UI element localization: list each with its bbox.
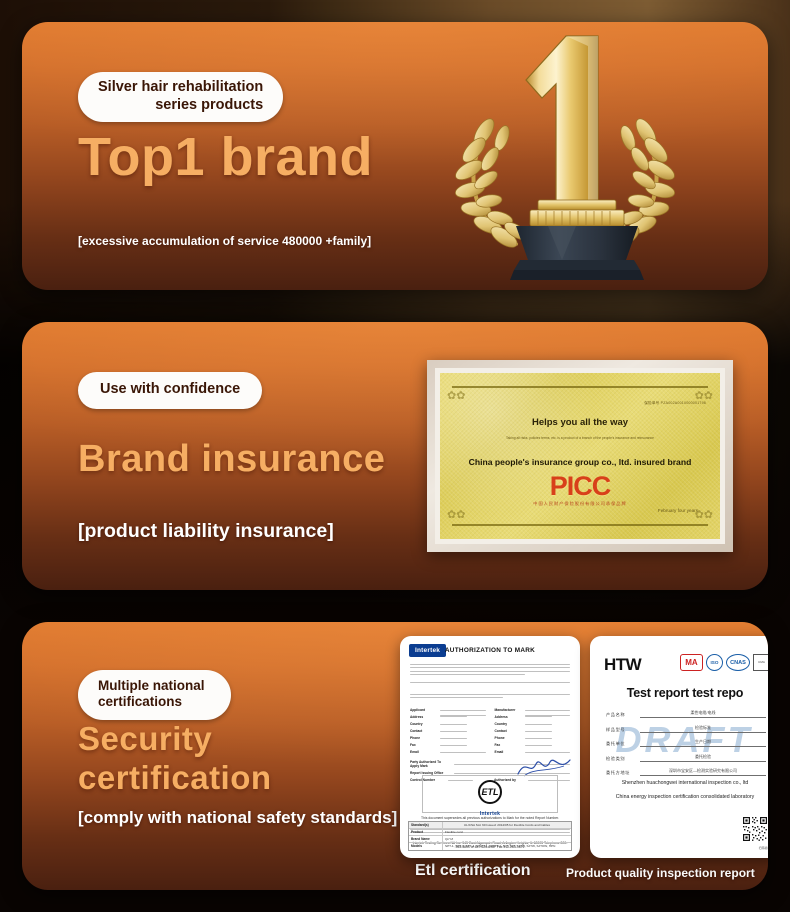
htw-report-title: Test report test repo (590, 686, 768, 700)
table-row: Standard(s) UL/CSA Std. 60 Issued: 2014/… (409, 822, 571, 829)
panel2-headline: Brand insurance (78, 440, 385, 478)
etl-mark-text: ETL (480, 782, 500, 802)
panel1-subline: [excessive accumulation of service 48000… (78, 234, 371, 248)
picc-serial-number: 保险单号 PZA002A0010000001798 (644, 401, 706, 406)
etl-table-key: Product (409, 829, 443, 835)
htw-organization-line2: China energy inspection certification co… (598, 794, 768, 800)
etl-field-label: Email (495, 750, 521, 754)
htw-logo: HTW (604, 656, 641, 673)
etl-field-label: Address (410, 715, 436, 719)
panel2-badge-pill: Use with confidence (78, 372, 262, 409)
htw-field-value: 生产日期 (640, 739, 766, 747)
etl-certification-mark: ETL Intertek (400, 780, 580, 817)
etl-field-grid: Applicant Address Country Contact Phone … (410, 708, 570, 757)
etl-table-value: QnYZ (443, 836, 571, 842)
trophy-base (510, 226, 644, 280)
panel2-text-column: Use with confidence Brand insurance [pro… (78, 322, 458, 590)
htw-field-value: 委托检验 (640, 754, 766, 762)
panel2-subline: [product liability insurance] (78, 520, 334, 543)
cnas-badge-icon: CNAS (726, 654, 750, 671)
htw-field-row: 检验类别 委托检验 (606, 754, 766, 762)
picc-logo: PICC 中国人民财产保险股份有限公司承保品牌 (440, 473, 720, 507)
panel3-badge-pill: Multiple national certifications (78, 670, 231, 720)
picc-corner-ornament-icon: ✿✿ (447, 510, 465, 521)
picc-corner-ornament-icon: ✿✿ (447, 391, 465, 402)
htw-field-row: 委托方地址 深圳市宝安区—检测实验研究有限公司 (606, 768, 766, 776)
htw-field-value: 检验标准 (640, 725, 766, 733)
htw-qr-caption: 扫码验真 (759, 846, 768, 850)
htw-test-report-document[interactable]: HTW MA ISO CNAS CMA Test report test rep… (590, 636, 768, 858)
panel1-headline: Top1 brand (78, 130, 373, 184)
etl-paragraph-2 (410, 682, 570, 685)
panel-security-certification[interactable]: Multiple national certifications Securit… (22, 622, 768, 890)
table-row: Product Flexible cord (409, 829, 571, 836)
htw-field-row: 产品名称 柔性电缆/电线 (606, 710, 766, 718)
etl-field-label: Address (495, 715, 521, 719)
panel1-badge-line2: series products (98, 97, 263, 115)
etl-field-label: Email (410, 750, 436, 754)
etl-field-label: Contact (495, 729, 521, 733)
panel-top1-brand[interactable]: Silver hair rehabilitation series produc… (22, 22, 768, 290)
panel3-headline: Security certification (78, 720, 272, 798)
htw-field-value: 柔性电缆/电线 (640, 710, 766, 718)
picc-fine-print: Taking all risks, policies terms, etc. i… (464, 436, 696, 440)
number-one-shape (526, 36, 598, 204)
picc-certificate-frame[interactable]: ✿✿ ✿✿ ✿✿ ✿✿ 保险单号 PZA002A0010000001798 He… (427, 360, 733, 552)
etl-field-label: Contact (410, 729, 436, 733)
htw-field-row: 样品型号 检验标准 (606, 725, 766, 733)
panel3-headline-line1: Security (78, 720, 272, 759)
htw-field-label: 产品名称 (606, 712, 636, 718)
panel1-badge-line1: Silver hair rehabilitation (98, 79, 263, 97)
htw-field-label: 检验类别 (606, 756, 636, 762)
panel3-headline-line2: certification (78, 759, 272, 798)
picc-certificate-paper: ✿✿ ✿✿ ✿✿ ✿✿ 保险单号 PZA002A0010000001798 He… (440, 373, 720, 539)
picc-date: February four years (658, 508, 698, 513)
trophy-cap (530, 200, 624, 226)
etl-field-label: Fax (495, 743, 521, 747)
etl-mark-icon: ETL (478, 780, 502, 804)
etl-certificate-document[interactable]: Intertek AUTHORIZATION TO MARK Applicant (400, 636, 580, 858)
picc-main-line: China people's insurance group co., ltd.… (448, 457, 712, 467)
etl-table-key: Brand Name (409, 836, 443, 842)
promo-stage: Silver hair rehabilitation series produc… (0, 0, 790, 912)
htw-field-value: 深圳市宝安区—检测实验研究有限公司 (640, 768, 766, 776)
htw-accreditation-badges: MA ISO CNAS CMA (680, 654, 768, 671)
panel3-badge-line2: certifications (98, 694, 205, 710)
cma-badge-icon: MA (680, 654, 703, 671)
panel1-badge-pill: Silver hair rehabilitation series produc… (78, 72, 283, 122)
etl-paragraph-1 (410, 664, 570, 678)
etl-field-label: Applicant (410, 708, 436, 712)
htw-field-label: 样品型号 (606, 727, 636, 733)
etl-footer-note: This document supersedes all previous au… (410, 816, 570, 820)
panel3-subline: [comply with national safety standards] (78, 808, 397, 828)
qr-code-icon (742, 816, 768, 842)
etl-field-label: Country (410, 722, 436, 726)
picc-logo-subtext: 中国人民财产保险股份有限公司承保品牌 (440, 501, 720, 507)
htw-organization-line1: Shenzhen huachongwei international inspe… (598, 780, 768, 786)
etl-applicant-column: Applicant Address Country Contact Phone … (410, 708, 486, 757)
etl-manufacturer-column: Manufacturer Address Country Contact Pho… (495, 708, 571, 757)
etl-table-value: Flexible cord (443, 829, 571, 835)
etl-field-label: Country (495, 722, 521, 726)
htw-field-list: 产品名称 柔性电缆/电线 样品型号 检验标准 委托单位 生产日期 检验类别 (606, 710, 766, 783)
htw-field-label: 委托方地址 (606, 770, 636, 776)
picc-logo-text: PICC (440, 473, 720, 500)
etl-table-key: Models (409, 843, 443, 850)
picc-certificate-mat: ✿✿ ✿✿ ✿✿ ✿✿ 保险单号 PZA002A0010000001798 He… (435, 368, 725, 544)
etl-paragraph-3 (410, 694, 570, 701)
picc-heading: Helps you all the way (440, 417, 720, 428)
picc-rule-top (452, 386, 708, 388)
picc-rule-bottom (452, 524, 708, 526)
htw-field-label: 委托单位 (606, 741, 636, 747)
panel1-text-column: Silver hair rehabilitation series produc… (78, 22, 458, 290)
etl-specification-table: Standard(s) UL/CSA Std. 60 Issued: 2014/… (408, 821, 572, 851)
htw-field-row: 委托单位 生产日期 (606, 739, 766, 747)
table-row: Brand Name QnYZ (409, 836, 571, 843)
panel-brand-insurance[interactable]: Use with confidence Brand insurance [pro… (22, 322, 768, 590)
accreditation-square-badge-icon: CMA (753, 654, 768, 671)
etl-table-value: UL/CSA Std. 60 Issued: 2014/05 for Flexi… (443, 822, 571, 828)
trophy-number-one-icon (430, 28, 700, 286)
trophy-illustration (430, 28, 700, 286)
etl-document-title: AUTHORIZATION TO MARK (400, 647, 580, 654)
iso-badge-icon: ISO (706, 654, 723, 671)
etl-field-label: Phone (410, 736, 436, 740)
etl-table-key: Standard(s) (409, 822, 443, 828)
table-row: Models SPT-1, SPT-2, SPT-3, NISPT-1, NIS… (409, 843, 571, 850)
panel3-badge-line1: Multiple national (98, 678, 205, 694)
etl-table-value: SPT-1, SPT-2, SPT-3, NISPT-1, NISPT-2, S… (443, 843, 571, 850)
etl-field-label: Manufacturer (495, 708, 521, 712)
etl-field-label: Fax (410, 743, 436, 747)
etl-field-label: Phone (495, 736, 521, 740)
etl-field-label: Party Authorized To Apply Mark (410, 760, 450, 768)
